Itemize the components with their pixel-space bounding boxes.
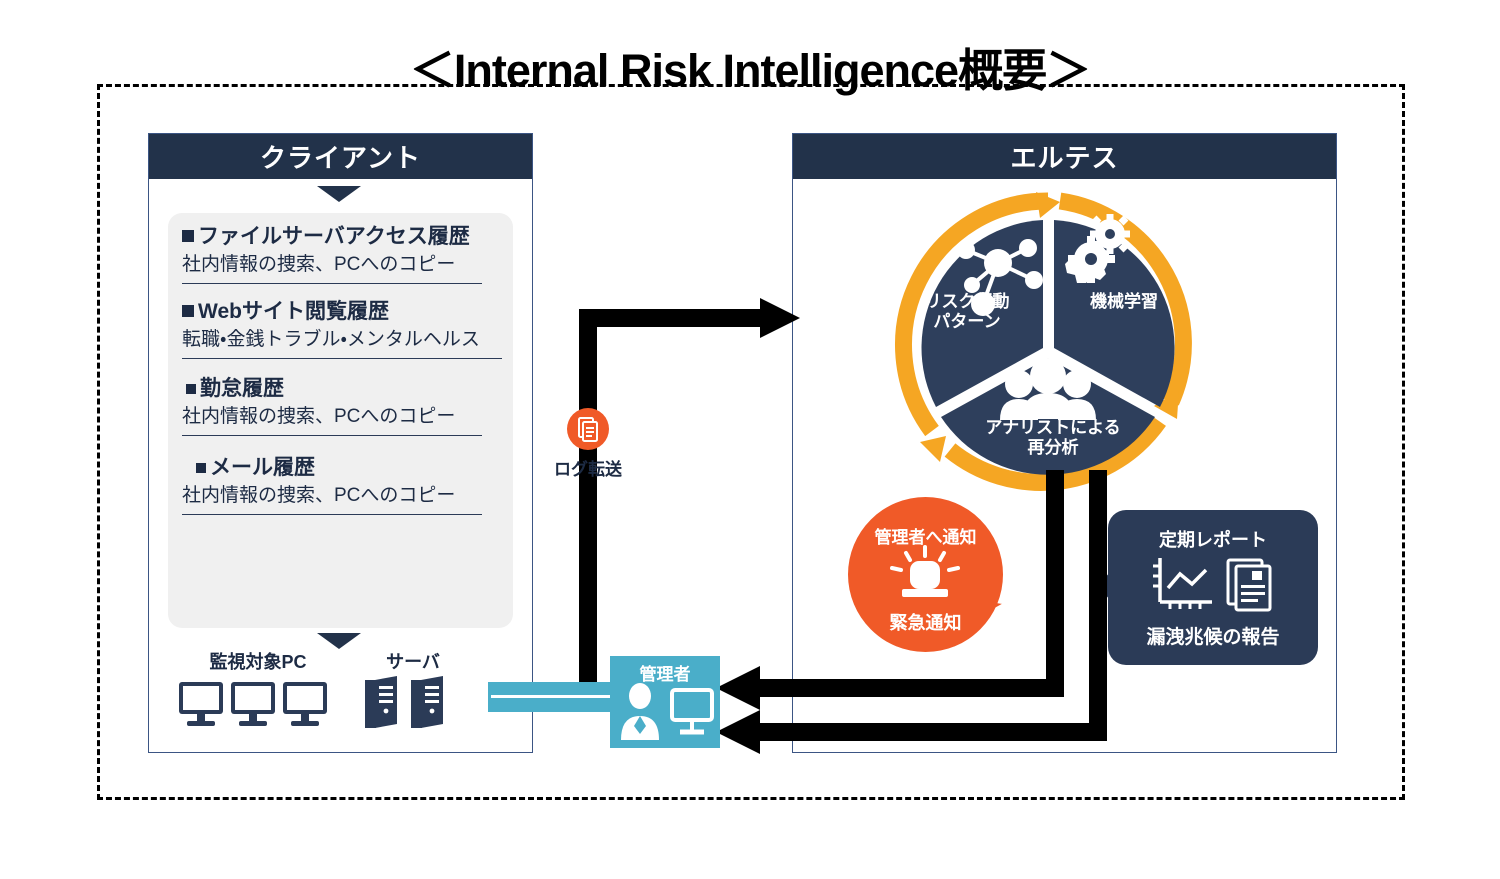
cycle-segment-risk-label: リスク行動 パターン xyxy=(902,292,1032,333)
log-item-title: 勤怠履歴 xyxy=(186,375,499,403)
log-transfer-label: ログ転送 xyxy=(528,455,648,480)
divider xyxy=(182,514,482,515)
document-transfer-icon xyxy=(567,408,609,450)
list-item: ファイルサーバアクセス履歴 社内情報の捜索、PCへのコピー xyxy=(182,223,499,284)
divider xyxy=(182,358,502,359)
monitored-pc-label: 監視対象PC xyxy=(173,648,343,674)
bullet-square-icon xyxy=(186,384,196,394)
server-label: サーバ xyxy=(353,648,473,674)
log-item-subtitle: 社内情報の捜索、PCへのコピー xyxy=(182,404,499,431)
log-item-subtitle: 社内情報の捜索、PCへのコピー xyxy=(182,483,499,510)
report-top-label: 定期レポート xyxy=(1108,526,1318,552)
divider xyxy=(182,283,482,284)
eltes-panel-header: エルテス xyxy=(793,134,1336,179)
client-devices: 監視対象PC サーバ xyxy=(168,648,513,748)
person-icon xyxy=(621,683,659,740)
cycle-segment-analyst-label: アナリストによる 再分析 xyxy=(968,418,1138,459)
list-item: 勤怠履歴 社内情報の捜索、PCへのコピー xyxy=(182,375,499,436)
log-item-title: メール履歴 xyxy=(196,454,499,482)
report-bottom-label: 漏洩兆候の報告 xyxy=(1108,622,1318,649)
siren-icon xyxy=(848,545,1003,605)
server-group: サーバ xyxy=(353,648,473,741)
monitor-icon xyxy=(173,674,343,736)
people-group-icon xyxy=(1000,358,1096,420)
report-icons xyxy=(1108,554,1318,616)
server-icon xyxy=(353,674,473,736)
chevron-down-icon-bottom xyxy=(317,633,361,649)
administrator-box: 管理者 xyxy=(610,656,720,748)
bullet-square-icon xyxy=(182,305,194,317)
client-log-list: ファイルサーバアクセス履歴 社内情報の捜索、PCへのコピー Webサイト閲覧履歴… xyxy=(168,213,513,628)
admin-connection-bar xyxy=(488,682,616,712)
analysis-cycle-diagram: リスク行動 パターン 機械学習 アナリストによる 再分析 xyxy=(888,188,1208,503)
list-item: メール履歴 社内情報の捜索、PCへのコピー xyxy=(182,454,499,515)
divider xyxy=(182,435,482,436)
log-item-subtitle: 転職・金銭トラブル・メンタルヘルス xyxy=(182,327,499,354)
log-item-subtitle: 社内情報の捜索、PCへのコピー xyxy=(182,252,499,279)
line-chart-icon xyxy=(1153,558,1212,609)
log-item-title: Webサイト閲覧履歴 xyxy=(182,298,499,326)
documents-icon xyxy=(1228,560,1270,610)
log-transfer-marker: ログ転送 xyxy=(528,408,648,480)
monitor-icon xyxy=(672,690,712,732)
bar-highlight xyxy=(491,695,613,698)
diagram-canvas: ＜Internal Risk Intelligence概要＞ クライアント ファ… xyxy=(0,0,1500,879)
alert-bottom-label: 緊急通知 xyxy=(848,609,1003,635)
periodic-report-box: 定期レポート 漏洩兆候の報告 xyxy=(1108,510,1318,665)
bullet-square-icon xyxy=(196,463,206,473)
bullet-square-icon xyxy=(182,230,194,242)
emergency-alert-bubble: 管理者へ通知 緊急通知 xyxy=(848,497,1013,657)
monitored-pc-group: 監視対象PC xyxy=(173,648,343,741)
client-panel-header: クライアント xyxy=(149,134,532,179)
chevron-down-icon-top xyxy=(317,186,361,202)
list-item: Webサイト閲覧履歴 転職・金銭トラブル・メンタルヘルス xyxy=(182,298,499,359)
page-title: ＜Internal Risk Intelligence概要＞ xyxy=(0,34,1500,99)
cycle-segment-ml-label: 機械学習 xyxy=(1064,292,1184,312)
log-item-title: ファイルサーバアクセス履歴 xyxy=(182,223,499,251)
